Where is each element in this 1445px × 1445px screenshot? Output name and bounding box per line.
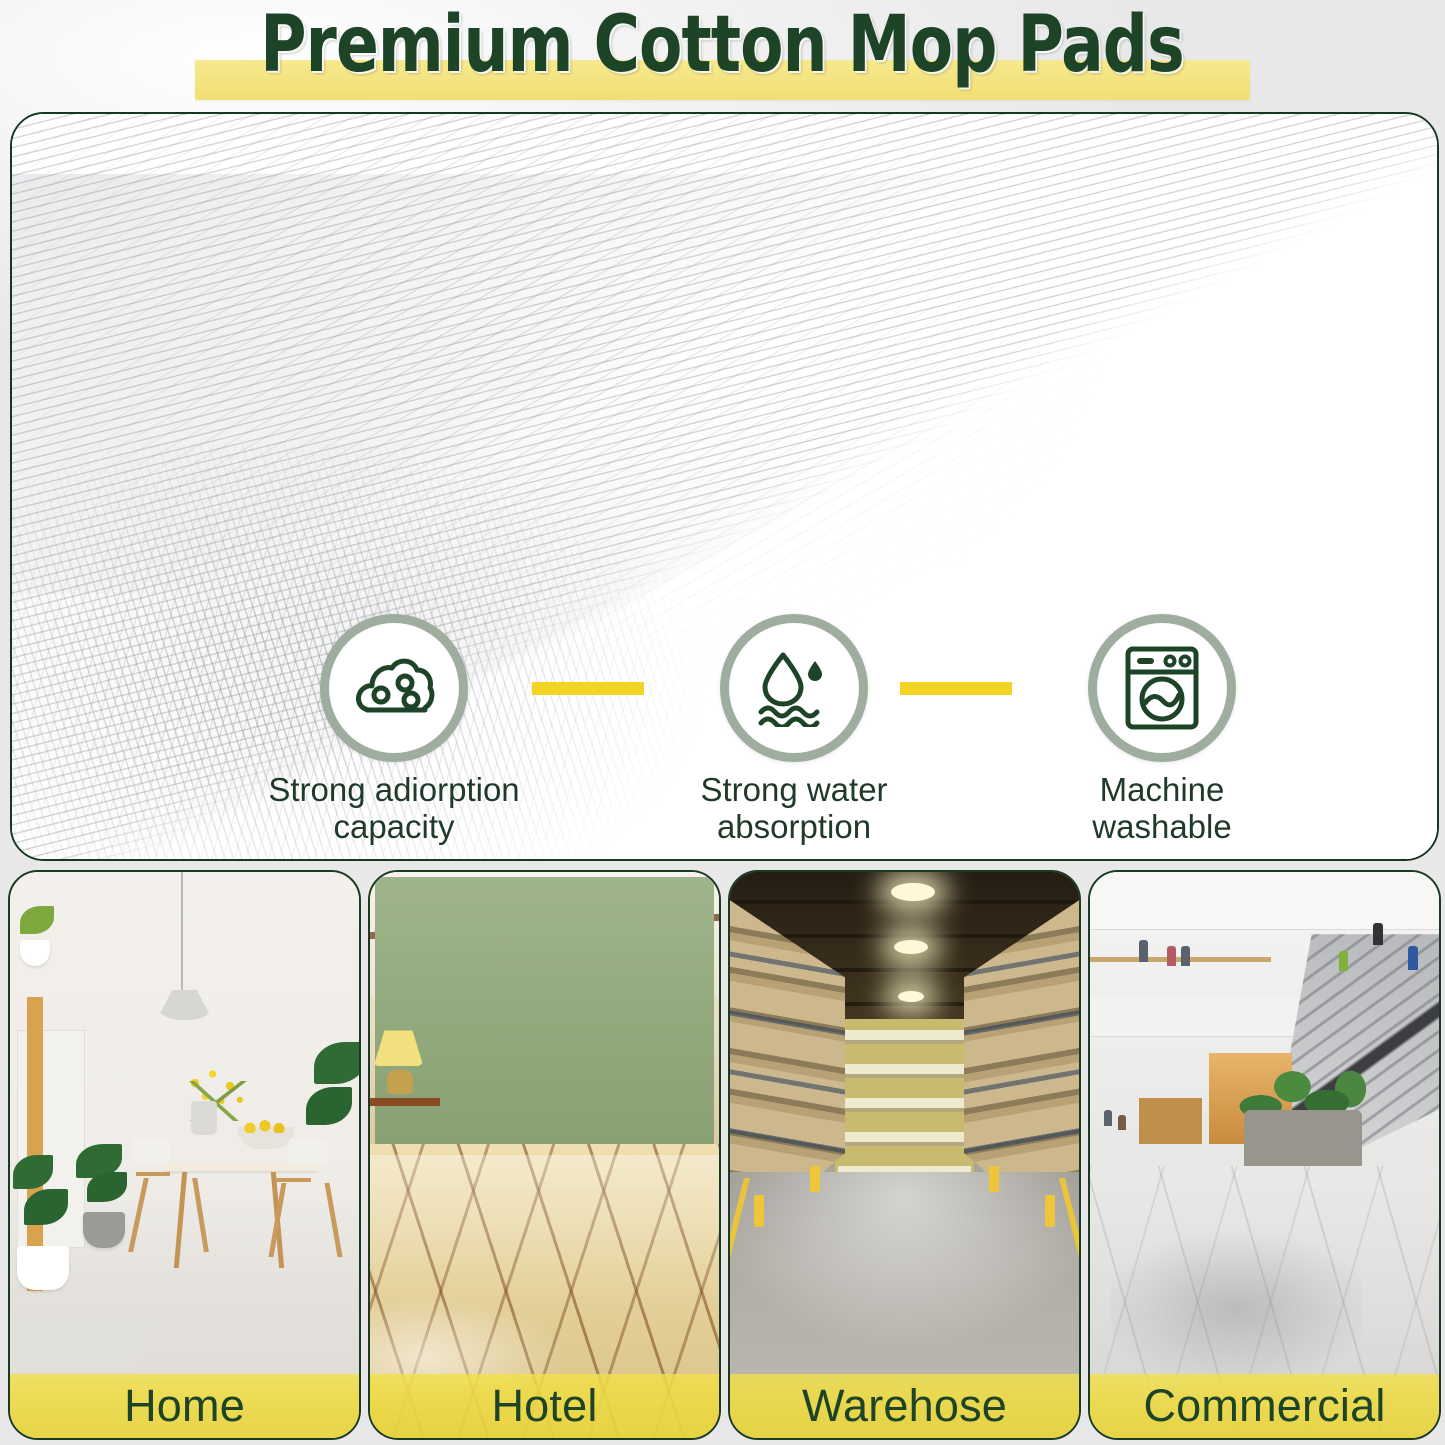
sponge-absorption-icon — [353, 652, 435, 724]
commercial-scene-photo — [1090, 872, 1439, 1438]
use-case-label-hotel: Hotel — [370, 1374, 719, 1438]
use-case-card-commercial: Commercial — [1088, 870, 1441, 1440]
page-title: Premium Cotton Mop Pads — [261, 2, 1185, 88]
washing-machine-icon — [1123, 645, 1201, 731]
feature-badges: Strong adiorption capacity — [12, 614, 1437, 859]
feature-item-absorption-capacity: Strong adiorption capacity — [244, 614, 544, 845]
water-drop-waves-icon — [753, 649, 835, 727]
feature-label-3: Machine washable — [1012, 771, 1312, 845]
badge-circle-1 — [320, 614, 468, 762]
warehouse-scene-photo — [730, 872, 1079, 1438]
use-case-label-warehouse: Warehose — [730, 1374, 1079, 1438]
badge-circle-2 — [720, 614, 868, 762]
use-case-label-home: Home — [10, 1374, 359, 1438]
badge-circle-3 — [1088, 614, 1236, 762]
title-banner: Premium Cotton Mop Pads — [0, 0, 1445, 112]
use-case-label-commercial: Commercial — [1090, 1374, 1439, 1438]
use-case-card-hotel: Hotel — [368, 870, 721, 1440]
infographic-page: Premium Cotton Mop Pads — [0, 0, 1445, 1445]
hero-panel: Strong adiorption capacity — [10, 112, 1439, 861]
feature-item-water-absorption: Strong water absorption — [644, 614, 944, 845]
home-scene-photo — [10, 872, 359, 1438]
hotel-scene-photo — [370, 872, 719, 1438]
feature-label-1: Strong adiorption capacity — [244, 771, 544, 845]
use-case-card-warehouse: Warehose — [728, 870, 1081, 1440]
feature-label-2: Strong water absorption — [644, 771, 944, 845]
use-case-grid: Home — [8, 870, 1437, 1438]
feature-item-machine-washable: Machine washable — [1012, 614, 1312, 845]
use-case-card-home: Home — [8, 870, 361, 1440]
connector-dash-1 — [532, 682, 644, 695]
